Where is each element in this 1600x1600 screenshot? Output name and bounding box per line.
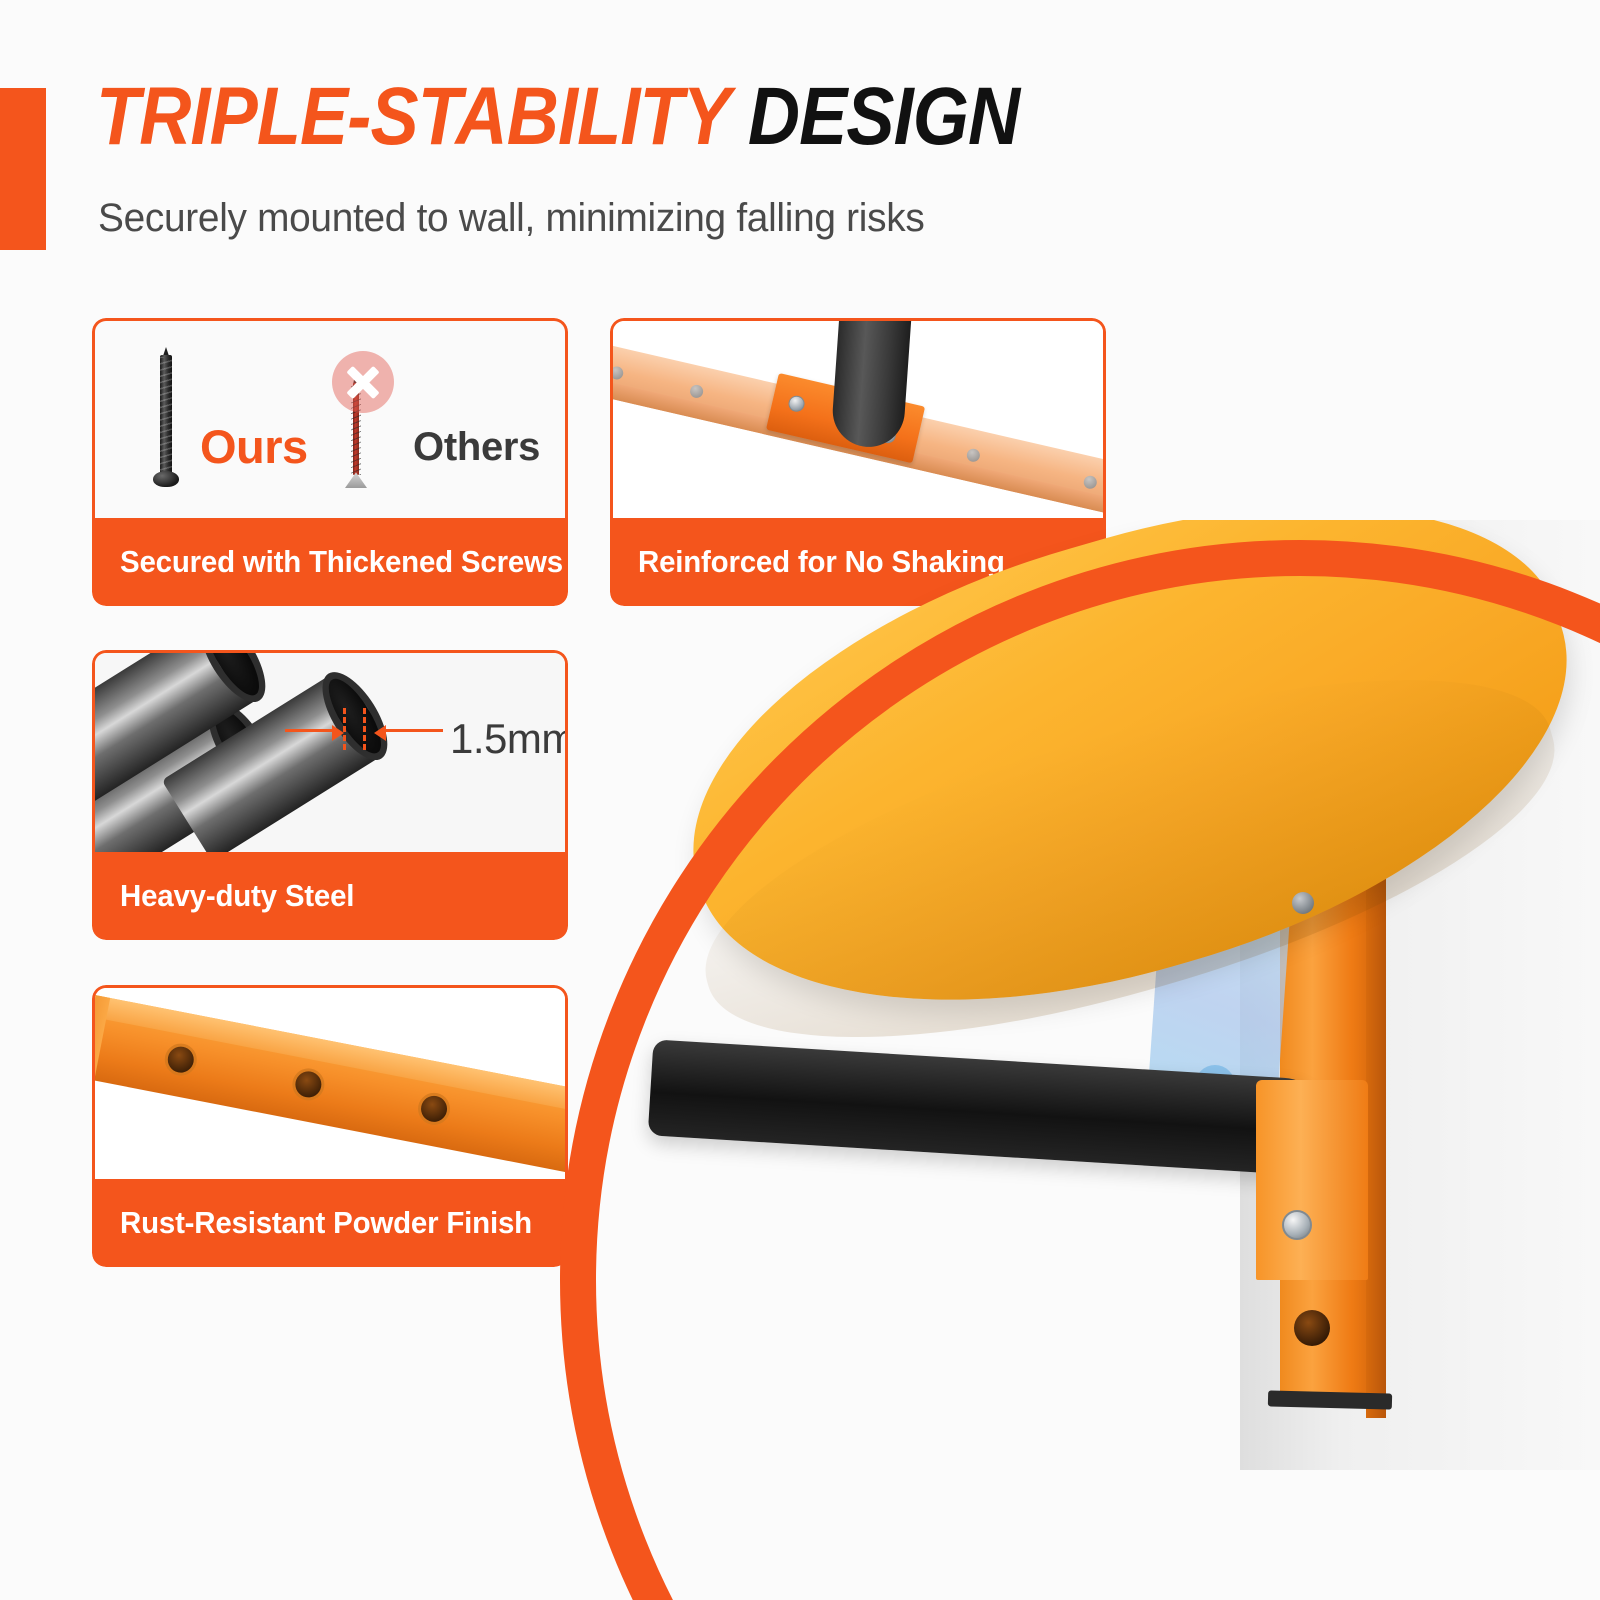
title-main: TRIPLE-STABILITY [96,71,748,162]
powder-coated-bar [92,990,568,1179]
feature-card-screws: Ours Others Secured with Thickened Screw… [92,318,568,606]
infographic-page: TRIPLE-STABILITY DESIGN Securely mounted… [0,0,1600,1600]
steel-tubes-image: 1.5mm [92,650,568,852]
steel-tubes-art: 1.5mm [95,653,565,852]
card-caption-finish: Rust-Resistant Powder Finish [92,1179,568,1267]
powder-finish-art [95,988,565,1179]
feature-card-steel: 1.5mm Heavy-duty Steel [92,650,568,940]
page-title: TRIPLE-STABILITY DESIGN [96,76,1019,158]
ours-label: Ours [200,419,308,474]
feature-card-finish: Rust-Resistant Powder Finish [92,985,568,1267]
card-caption-steel: Heavy-duty Steel [92,852,568,940]
accent-bar [0,88,46,250]
hero-product-photo [540,520,1600,1600]
card-caption-steel-text: Heavy-duty Steel [120,878,354,914]
dimension-arrow-right [285,729,333,732]
card-caption-finish-text: Rust-Resistant Powder Finish [120,1205,532,1241]
header: TRIPLE-STABILITY DESIGN Securely mounted… [0,0,1600,278]
decorative-arc [560,540,1600,1600]
title-accent: DESIGN [748,71,1019,162]
thick-screw-icon [155,341,177,491]
reinforced-joint-art [613,321,1103,518]
page-subtitle: Securely mounted to wall, minimizing fal… [98,196,924,241]
padded-tube [830,318,911,449]
powder-finish-image [92,985,568,1179]
x-mark-icon [332,351,394,413]
dimension-arrow-left [385,729,443,732]
dimension-line-right [363,708,366,750]
screws-comparison-image: Ours Others [92,318,568,518]
card-caption-screws: Secured with Thickened Screws [92,518,568,606]
reinforced-joint-image [610,318,1106,518]
others-label: Others [413,425,540,470]
card-caption-screws-text: Secured with Thickened Screws [120,544,563,580]
